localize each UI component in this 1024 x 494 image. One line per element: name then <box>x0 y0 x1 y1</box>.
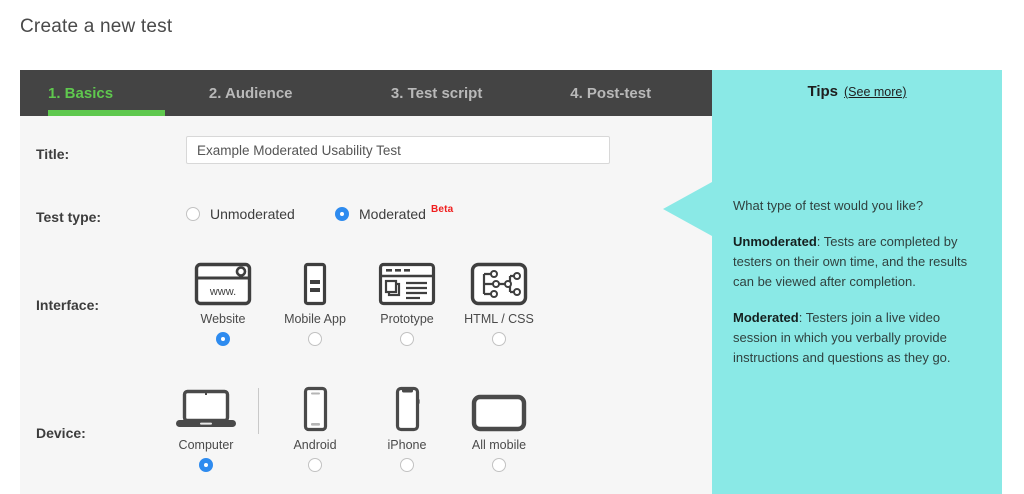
device-divider <box>258 388 259 434</box>
interface-option-mobile-app[interactable]: Mobile App <box>269 258 361 346</box>
radio-device-all-mobile[interactable] <box>492 458 506 472</box>
interface-html-css-label: HTML / CSS <box>464 312 534 326</box>
radio-interface-website[interactable] <box>216 332 230 346</box>
basics-form: Title: Test type: Unmoderated Moderated … <box>20 116 712 494</box>
radio-device-computer[interactable] <box>199 458 213 472</box>
interface-option-html-css[interactable]: HTML / CSS <box>453 258 545 346</box>
radio-unmoderated[interactable] <box>186 207 200 221</box>
tips-unmoderated: Unmoderated: Tests are completed by test… <box>733 232 985 292</box>
interface-prototype-label: Prototype <box>380 312 434 326</box>
tips-heading: Tips <box>807 83 838 100</box>
iphone-icon <box>391 384 423 432</box>
test-type-row: Test type: Unmoderated Moderated Beta <box>20 188 712 250</box>
svg-text:www.: www. <box>209 286 236 298</box>
tips-moderated: Moderated: Testers join a live video ses… <box>733 308 985 368</box>
beta-badge: Beta <box>431 204 453 215</box>
device-option-iphone[interactable]: iPhone <box>361 384 453 472</box>
interface-options: www. Website Mobile App <box>177 258 545 346</box>
device-all-mobile-label: All mobile <box>472 438 526 452</box>
device-computer-label: Computer <box>179 438 234 452</box>
laptop-icon <box>172 384 240 432</box>
wizard-tabbar: 1. Basics 2. Audience 3. Test script 4. … <box>20 70 712 116</box>
test-type-unmoderated-label: Unmoderated <box>210 206 295 222</box>
tips-pointer-arrow <box>663 182 712 236</box>
title-row: Title: <box>20 116 712 188</box>
title-label: Title: <box>36 146 69 162</box>
interface-mobile-app-label: Mobile App <box>284 312 346 326</box>
see-more-link[interactable]: (See more) <box>844 85 907 99</box>
device-option-all-mobile[interactable]: All mobile <box>453 384 545 472</box>
interface-option-prototype[interactable]: Prototype <box>361 258 453 346</box>
test-type-moderated-label: Moderated <box>359 206 426 222</box>
interface-label: Interface: <box>36 297 99 313</box>
title-input[interactable] <box>186 136 610 164</box>
radio-moderated[interactable] <box>335 207 349 221</box>
tips-panel: Tips(See more) What type of test would y… <box>712 70 1002 494</box>
html-css-flow-icon <box>470 258 528 306</box>
page-title: Create a new test <box>20 16 172 38</box>
test-type-option-moderated[interactable]: Moderated Beta <box>335 206 453 222</box>
radio-device-iphone[interactable] <box>400 458 414 472</box>
tips-header: Tips(See more) <box>712 83 1002 100</box>
android-phone-icon <box>299 384 331 432</box>
tips-moderated-term: Moderated <box>733 310 799 325</box>
device-row: Device: Computer <box>20 374 712 494</box>
radio-interface-prototype[interactable] <box>400 332 414 346</box>
interface-row: Interface: www. Website <box>20 250 712 374</box>
tips-unmoderated-term: Unmoderated <box>733 234 817 249</box>
interface-option-website[interactable]: www. Website <box>177 258 269 346</box>
tips-body: What type of test would you like? Unmode… <box>733 196 985 384</box>
radio-interface-html-css[interactable] <box>492 332 506 346</box>
interface-website-label: Website <box>201 312 246 326</box>
tablet-icon <box>470 384 528 432</box>
prototype-icon <box>378 258 436 306</box>
radio-interface-mobile-app[interactable] <box>308 332 322 346</box>
device-label: Device: <box>36 425 86 441</box>
device-iphone-label: iPhone <box>388 438 427 452</box>
tab-test-script[interactable]: 3. Test script <box>364 70 543 116</box>
browser-www-icon: www. <box>194 258 252 306</box>
device-option-computer[interactable]: Computer <box>160 384 252 472</box>
mobile-app-icon <box>298 258 332 306</box>
device-options: Computer Android <box>160 384 545 472</box>
device-android-label: Android <box>293 438 336 452</box>
test-type-label: Test type: <box>36 209 101 225</box>
radio-device-android[interactable] <box>308 458 322 472</box>
device-option-android[interactable]: Android <box>269 384 361 472</box>
tips-question: What type of test would you like? <box>733 196 985 216</box>
create-test-wizard: 1. Basics 2. Audience 3. Test script 4. … <box>20 70 712 494</box>
tab-post-test[interactable]: 4. Post-test <box>543 70 712 116</box>
test-type-option-unmoderated[interactable]: Unmoderated <box>186 206 295 222</box>
tab-audience[interactable]: 2. Audience <box>181 70 364 116</box>
